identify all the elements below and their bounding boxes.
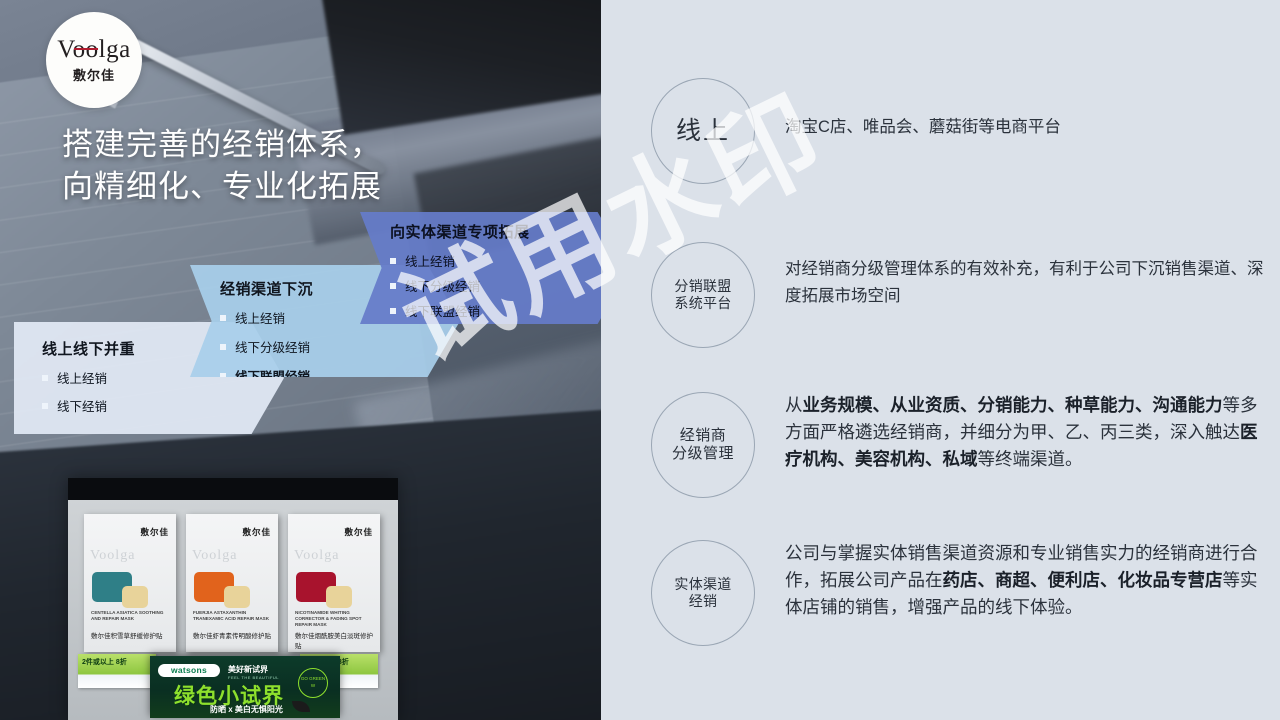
channel-description: 淘宝C店、唯品会、蘑菇街等电商平台 — [785, 78, 1061, 141]
product-ghost-wordmark: Voolga — [192, 548, 237, 564]
product-brand: 敷尔佳 — [242, 526, 271, 538]
product-name-cn: 敷尔佳虾青素传明酸修护贴 — [193, 630, 273, 640]
channel-circle-label: 分销联盟 — [674, 278, 731, 295]
price-tag: 2件或以上 8折 — [78, 654, 156, 688]
channel-circle-label: 经销商 — [680, 427, 727, 445]
list-item: 线下分级经销 — [390, 276, 601, 295]
product-box: 敷尔佳 Voolga CENTELLA ASIATICA SOOTHING AN… — [84, 514, 176, 652]
brand-logo-chinese: 敷尔佳 — [73, 65, 115, 84]
channel-circle-badge[interactable]: 经销商 分级管理 — [651, 392, 755, 498]
leaf-icon — [292, 701, 310, 712]
channel-row: 分销联盟 系统平台 对经销商分级管理体系的有效补充，有利于公司下沉销售渠道、深度… — [601, 242, 1280, 348]
left-panel: Voolga 敷尔佳 搭建完善的经销体系， 向精细化、专业化拓展 线上线下并重 … — [0, 0, 601, 720]
go-green-badge-icon: GO GREEN W — [298, 668, 328, 698]
channel-circle-label: 实体渠道 — [674, 576, 731, 593]
channel-description: 公司与掌握实体销售渠道资源和专业销售实力的经销商进行合作，拓展公司产品在药店、商… — [785, 540, 1265, 621]
promo-tagline: 防晒 x 美白无惧阳光 — [210, 704, 283, 715]
channel-circle-badge[interactable]: 实体渠道 经销 — [651, 540, 755, 646]
channel-description: 从业务规模、从业资质、分销能力、种草能力、沟通能力等多方面严格遴选经销商，并细分… — [785, 392, 1265, 473]
square-bullet-icon — [220, 344, 226, 350]
product-name-en: CENTELLA ASIATICA SOOTHING AND REPAIR MA… — [91, 610, 171, 622]
right-panel: 线上 淘宝C店、唯品会、蘑菇街等电商平台 分销联盟 系统平台 对经销商分级管理体… — [601, 0, 1280, 720]
product-name-cn: 敷尔佳烟酰胺美白淡斑修护贴 — [295, 630, 375, 650]
product-ghost-wordmark: Voolga — [294, 548, 339, 564]
product-box: 敷尔佳 Voolga FUERJIA ASTAXANTHIN TRANEXAMI… — [186, 514, 278, 652]
product-swatch-secondary — [122, 586, 148, 608]
square-bullet-icon — [42, 375, 48, 381]
channel-row: 实体渠道 经销 公司与掌握实体销售渠道资源和专业销售实力的经销商进行合作，拓展公… — [601, 540, 1280, 646]
product-name-en: NICOTINAMIDE WHITING CORRECTOR & FADING … — [295, 610, 375, 629]
channel-row: 线上 淘宝C店、唯品会、蘑菇街等电商平台 — [601, 78, 1280, 184]
brand-logo-wordmark: Voolga — [57, 37, 130, 62]
list-item: 线上经销 — [390, 251, 601, 270]
channel-circle-label: 经销 — [689, 593, 718, 610]
slide-root: Voolga 敷尔佳 搭建完善的经销体系， 向精细化、专业化拓展 线上线下并重 … — [0, 0, 1280, 720]
list-item: 线下联盟经销 — [390, 301, 601, 320]
process-step-3-title: 向实体渠道专项拓展 — [390, 221, 601, 242]
product-swatch-secondary — [326, 586, 352, 608]
list-item: 线下分级经销 — [220, 337, 460, 356]
square-bullet-icon — [390, 258, 396, 264]
brand-logo: Voolga 敷尔佳 — [46, 12, 142, 108]
channel-row: 经销商 分级管理 从业务规模、从业资质、分销能力、种草能力、沟通能力等多方面严格… — [601, 392, 1280, 498]
shelf-top-bar — [68, 478, 398, 500]
channel-circle-label: 分级管理 — [672, 445, 734, 463]
slide-title-line2: 向精细化、专业化拓展 — [62, 166, 522, 208]
list-item: 线下经销 — [42, 396, 284, 415]
product-name-cn: 敷尔佳积雪草舒缓修护贴 — [91, 630, 171, 640]
channel-circle-label: 系统平台 — [674, 295, 731, 312]
square-bullet-icon — [390, 308, 396, 314]
promo-banner: watsons 美好新试界 FEEL THE BEAUTIFUL 绿色小试界 防… — [150, 656, 340, 718]
product-box: 敷尔佳 Voolga NICOTINAMIDE WHITING CORRECTO… — [288, 514, 380, 652]
slide-title-line1: 搭建完善的经销体系， — [62, 127, 382, 162]
square-bullet-icon — [42, 403, 48, 409]
promo-subtitle: 美好新试界 FEEL THE BEAUTIFUL — [228, 664, 279, 680]
product-shelf-photo: 敷尔佳 Voolga CENTELLA ASIATICA SOOTHING AN… — [68, 478, 398, 720]
square-bullet-icon — [390, 283, 396, 289]
product-ghost-wordmark: Voolga — [90, 548, 135, 564]
channel-circle-label: 线上 — [676, 116, 730, 147]
product-brand: 敷尔佳 — [344, 526, 373, 538]
channel-circle-badge[interactable]: 线上 — [651, 78, 755, 184]
square-bullet-icon — [220, 315, 226, 321]
product-name-en: FUERJIA ASTAXANTHIN TRANEXAMIC ACID REPA… — [193, 610, 273, 622]
process-step-3[interactable]: 向实体渠道专项拓展 线上经销 线下分级经销 线下联盟经销 线下渠道经销 — [360, 212, 601, 324]
product-swatch-secondary — [224, 586, 250, 608]
product-brand: 敷尔佳 — [140, 526, 169, 538]
channel-circle-badge[interactable]: 分销联盟 系统平台 — [651, 242, 755, 348]
slide-title: 搭建完善的经销体系， 向精细化、专业化拓展 — [62, 124, 522, 208]
watsons-logo: watsons — [158, 664, 220, 677]
channel-description: 对经销商分级管理体系的有效补充，有利于公司下沉销售渠道、深度拓展市场空间 — [785, 242, 1265, 309]
price-tag-text: 2件或以上 8折 — [78, 654, 156, 667]
